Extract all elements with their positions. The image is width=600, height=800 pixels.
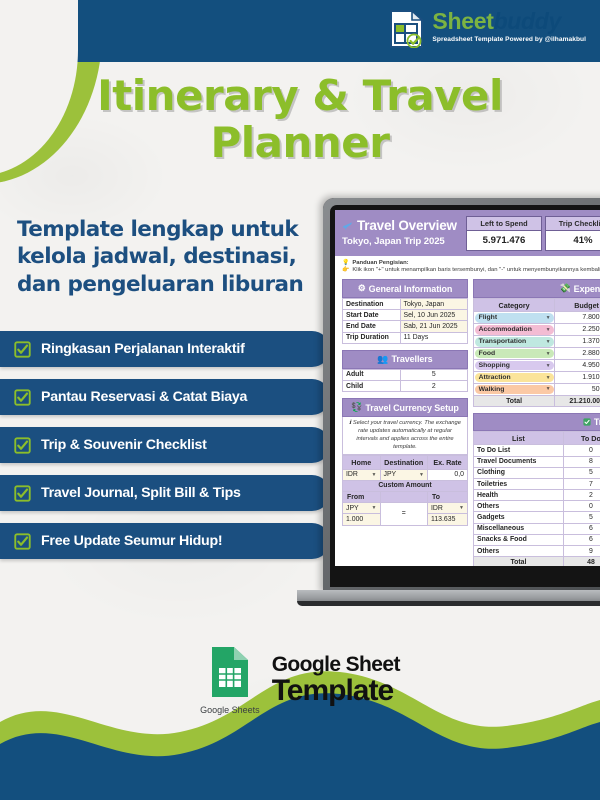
column-header: Home — [343, 456, 381, 469]
spreadsheet-body: ⚙ General Information Destination Tokyo,… — [335, 276, 600, 566]
table-row: Transportation ▼ 1.370.000 — [474, 336, 600, 348]
page-title-line-1: Itinerary & Travel — [0, 72, 600, 119]
logo-word-secondary: buddy — [494, 8, 562, 34]
subheading-line-3: dan pengeluaran liburan — [17, 271, 317, 298]
from-currency-value: JPY — [346, 505, 359, 512]
chevron-down-icon: ▼ — [546, 375, 551, 381]
feature-label: Trip & Souvenir Checklist — [41, 437, 207, 453]
to-label: To — [428, 491, 468, 502]
row-value[interactable]: 2 — [400, 380, 468, 391]
checkbox-checked-icon — [583, 418, 591, 426]
total-value: 21.210.000 — [555, 395, 600, 406]
kpi-card: Trip Checklist 41% — [545, 216, 600, 251]
page-title: Itinerary & Travel Planner — [0, 72, 600, 166]
row-label: Start Date — [343, 310, 401, 321]
subheading-line-1: Template lengkap untuk — [17, 216, 317, 243]
checklist-name: To Do List — [474, 445, 564, 456]
currency-note: ℹ Select your travel currency. The excha… — [342, 417, 468, 455]
chevron-down-icon: ▼ — [419, 472, 424, 478]
table-row: Miscellaneous 6 — [474, 523, 600, 534]
expense-category-cell[interactable]: Flight ▼ — [474, 312, 555, 324]
info-icon: ℹ — [349, 420, 351, 426]
expense-budget: 2.880.000 — [555, 348, 600, 360]
exchange-rate-value: 0,0 — [428, 469, 468, 480]
to-currency-select[interactable]: IDR ▼ — [428, 503, 468, 514]
kpi-label: Left to Spend — [466, 216, 542, 231]
row-value[interactable]: Sab, 21 Jun 2025 — [400, 321, 468, 332]
checkbox-checked-icon — [14, 485, 31, 502]
expense-category-cell[interactable]: Shopping ▼ — [474, 360, 555, 372]
people-icon: 👥 — [377, 354, 388, 365]
category-label: Shopping — [479, 362, 510, 369]
row-label: Adult — [343, 369, 401, 380]
expense-category-cell[interactable]: Transportation ▼ — [474, 336, 555, 348]
table-row: Others 0 — [474, 501, 600, 512]
checklist-count: 6 — [563, 523, 600, 534]
table-row: Start Date Sel, 10 Jun 2025 — [343, 310, 468, 321]
expense-category-cell[interactable]: Food ▼ — [474, 348, 555, 360]
google-sheet-template-text: Google Sheet Template — [272, 654, 400, 706]
row-value[interactable]: 5 — [400, 369, 468, 380]
from-amount[interactable]: 1.000 — [343, 514, 381, 525]
currency-title-text: Travel Currency Setup — [365, 403, 458, 413]
from-label: From — [343, 491, 381, 502]
checklist-title: Trip — [473, 413, 600, 431]
travellers-panel: 👥 Travellers Adult 5 — [342, 350, 468, 392]
chevron-down-icon: ▼ — [372, 472, 377, 478]
column-header: To Do — [563, 432, 600, 445]
page-subheading: Template lengkap untuk kelola jadwal, de… — [17, 216, 317, 298]
kpi-card: Left to Spend 5.971.476 — [466, 216, 542, 251]
currency-panel: 💱 Travel Currency Setup ℹ Select your tr… — [342, 398, 468, 525]
category-label: Transportation — [479, 338, 527, 345]
table-row: Attraction ▼ 1.910.000 — [474, 372, 600, 384]
google-sheets-logo-block: Google Sheets — [200, 645, 260, 715]
row-value[interactable]: 11 Days — [400, 332, 468, 343]
column-header: Ex. Rate — [428, 456, 468, 469]
guide-text: Klik ikon "+" untuk menampilkan baris te… — [352, 267, 600, 273]
expense-category-cell[interactable]: Accommodation ▼ — [474, 324, 555, 336]
table-row: Adult 5 — [343, 369, 468, 380]
total-value: 48 — [563, 557, 600, 566]
checklist-count: 2 — [563, 490, 600, 501]
total-label: Total — [474, 395, 555, 406]
category-pill[interactable]: Flight ▼ — [475, 313, 554, 323]
checklist-panel: Trip List To Do — [473, 413, 600, 566]
chevron-down-icon: ▼ — [372, 505, 377, 511]
table-row: Custom Amount — [343, 480, 468, 491]
custom-amount-title: Custom Amount — [343, 480, 468, 491]
row-label: Trip Duration — [343, 332, 401, 343]
pointing-hand-icon: 👉 — [342, 267, 349, 273]
table-row: Snacks & Food 6 — [474, 534, 600, 545]
category-label: Flight — [479, 314, 498, 321]
laptop-base-lip — [297, 601, 600, 606]
chevron-down-icon: ▼ — [546, 315, 551, 321]
chevron-down-icon: ▼ — [546, 363, 551, 369]
expense-category-cell[interactable]: Attraction ▼ — [474, 372, 555, 384]
category-label: Attraction — [479, 374, 511, 381]
checklist-count: 5 — [563, 512, 600, 523]
kpi-row: Left to Spend 5.971.476 Trip Checklist 4… — [460, 216, 600, 251]
google-sheets-caption: Google Sheets — [200, 705, 260, 715]
feature-label: Pantau Reservasi & Catat Biaya — [41, 389, 247, 405]
brand-logo: Sheetbuddy Spreadsheet Template Powered … — [389, 8, 586, 48]
feature-list: Ringkasan Perjalanan Interaktif Pantau R… — [0, 331, 330, 571]
checklist-count: 7 — [563, 478, 600, 489]
travellers-title-text: Travellers — [392, 354, 433, 364]
category-pill[interactable]: Accommodation ▼ — [475, 325, 554, 335]
expense-category-cell[interactable]: Walking ▼ — [474, 384, 555, 396]
checklist-name: Miscellaneous — [474, 523, 564, 534]
feature-item: Travel Journal, Split Bill & Tips — [0, 475, 330, 511]
expense-budget: 50.000 — [555, 384, 600, 396]
table-row: To Do List 0 — [474, 445, 600, 456]
footer-line-1: Google Sheet — [272, 654, 400, 675]
checkbox-checked-icon — [14, 341, 31, 358]
table-row: Travel Documents 8 — [474, 456, 600, 467]
chevron-down-icon: ▼ — [546, 327, 551, 333]
home-currency-value: IDR — [346, 471, 358, 478]
chevron-down-icon: ▼ — [459, 505, 464, 511]
guide-title: Panduan Pengisian: — [352, 260, 408, 266]
checklist-name: Travel Documents — [474, 456, 564, 467]
guide-title-row: 💡 Panduan Pengisian: — [342, 260, 600, 266]
category-label: Walking — [479, 386, 505, 393]
to-amount: 113.635 — [428, 514, 468, 525]
checklist-count: 5 — [563, 467, 600, 478]
table-header-row: Category Budget — [474, 299, 600, 312]
table-row: Destination Tokyo, Japan — [343, 299, 468, 310]
row-label: Child — [343, 380, 401, 391]
travellers-title: 👥 Travellers — [342, 350, 468, 369]
column-header: List — [474, 432, 564, 445]
table-row: Flight ▼ 7.800.000 — [474, 312, 600, 324]
table-total-row: Total 48 — [474, 557, 600, 566]
google-sheet-footer: Google Sheets Google Sheet Template — [0, 645, 600, 715]
feature-label: Ringkasan Perjalanan Interaktif — [41, 341, 245, 357]
checkbox-checked-icon — [14, 533, 31, 550]
subheading-line-2: kelola jadwal, destinasi, — [17, 243, 317, 270]
currency-note-text: Select your travel currency. The exchang… — [353, 420, 461, 449]
table-row: Gadgets 5 — [474, 512, 600, 523]
row-label: Destination — [343, 299, 401, 310]
expense-budget: 7.800.000 — [555, 312, 600, 324]
equals-sign: = — [380, 503, 428, 525]
table-row: Clothing 5 — [474, 467, 600, 478]
table-row: Child 2 — [343, 380, 468, 391]
to-currency-value: IDR — [431, 505, 443, 512]
currency-title: 💱 Travel Currency Setup — [342, 398, 468, 417]
google-sheets-icon — [209, 645, 251, 699]
destination-currency-select[interactable]: JPY ▼ — [380, 469, 428, 480]
table-row: From To — [343, 491, 468, 502]
chevron-down-icon: ▼ — [546, 339, 551, 345]
general-information-panel: ⚙ General Information Destination Tokyo,… — [342, 279, 468, 344]
from-currency-select[interactable]: JPY ▼ — [343, 503, 381, 514]
laptop-display: Travel Overview Tokyo, Japan Trip 2025 L… — [330, 205, 600, 587]
expenses-title-text: Expense — [574, 284, 600, 294]
laptop-screen: Travel Overview Tokyo, Japan Trip 2025 L… — [323, 198, 600, 594]
checklist-count: 6 — [563, 534, 600, 545]
category-pill[interactable]: Shopping ▼ — [475, 361, 554, 371]
category-label: Accommodation — [479, 326, 532, 333]
row-value[interactable]: Tokyo, Japan — [400, 299, 468, 310]
table-header-row: List To Do — [474, 432, 600, 445]
kpi-label: Trip Checklist — [545, 216, 600, 231]
money-icon: 💸 — [560, 283, 571, 294]
overview-title-text: Travel Overview — [357, 218, 457, 233]
checklist-name: Snacks & Food — [474, 534, 564, 545]
spreadsheet-header: Travel Overview Tokyo, Japan Trip 2025 L… — [335, 210, 600, 256]
left-column: ⚙ General Information Destination Tokyo,… — [342, 279, 468, 566]
checklist-count: 9 — [563, 546, 600, 557]
checklist-name: Toiletries — [474, 478, 564, 489]
checklist-title-text: Trip — [594, 417, 600, 427]
row-label: End Date — [343, 321, 401, 332]
category-pill[interactable]: Transportation ▼ — [475, 337, 554, 347]
expense-budget: 2.250.000 — [555, 324, 600, 336]
airplane-icon — [342, 220, 353, 231]
currency-icon: 💱 — [351, 402, 362, 413]
logo-tagline: Spreadsheet Template Powered by @ilhamak… — [432, 36, 586, 43]
expense-budget: 4.950.000 — [555, 360, 600, 372]
feature-item: Ringkasan Perjalanan Interaktif — [0, 331, 330, 367]
table-row: End Date Sab, 21 Jun 2025 — [343, 321, 468, 332]
kpi-value: 5.971.476 — [466, 231, 542, 251]
general-information-title-text: General Information — [369, 284, 453, 294]
checklist-name: Others — [474, 546, 564, 557]
column-header: Budget — [555, 299, 600, 312]
checkbox-checked-icon — [14, 437, 31, 454]
destination-currency-value: JPY — [384, 471, 397, 478]
table-header-row: Home Destination Ex. Rate — [343, 456, 468, 469]
currency-table: Home Destination Ex. Rate — [342, 455, 468, 525]
feature-label: Free Update Seumur Hidup! — [41, 533, 222, 549]
table-row: Accommodation ▼ 2.250.000 — [474, 324, 600, 336]
checklist-count: 8 — [563, 456, 600, 467]
spreadsheet-viewport: Travel Overview Tokyo, Japan Trip 2025 L… — [335, 210, 600, 566]
table-row: Trip Duration 11 Days — [343, 332, 468, 343]
table-row: Walking ▼ 50.000 — [474, 384, 600, 396]
checklist-name: Gadgets — [474, 512, 564, 523]
feature-item: Pantau Reservasi & Catat Biaya — [0, 379, 330, 415]
info-icon: ⚙ — [358, 283, 366, 294]
checklist-name: Health — [474, 490, 564, 501]
expense-budget: 1.910.000 — [555, 372, 600, 384]
row-value[interactable]: Sel, 10 Jun 2025 — [400, 310, 468, 321]
logo-wordmark: Sheetbuddy — [432, 10, 586, 33]
home-currency-select[interactable]: IDR ▼ — [343, 469, 381, 480]
feature-label: Travel Journal, Split Bill & Tips — [41, 485, 241, 501]
column-header: Destination — [380, 456, 428, 469]
footer-line-2: Template — [272, 676, 400, 706]
checkbox-checked-icon — [14, 389, 31, 406]
total-label: Total — [474, 557, 564, 566]
column-header: Category — [474, 299, 555, 312]
overview-title-row: Travel Overview — [342, 218, 460, 233]
expenses-table: Category Budget Flight — [473, 298, 600, 407]
kpi-value: 41% — [545, 231, 600, 251]
checklist-name: Clothing — [474, 467, 564, 478]
category-label: Food — [479, 350, 496, 357]
chevron-down-icon: ▼ — [546, 386, 551, 392]
right-column: 💸 Expense Category Budget — [473, 279, 600, 566]
laptop-mockup: Travel Overview Tokyo, Japan Trip 2025 L… — [323, 198, 600, 594]
travellers-table: Adult 5 Child 2 — [342, 369, 468, 392]
table-row: Shopping ▼ 4.950.000 — [474, 360, 600, 372]
table-row: IDR ▼ JPY ▼ — [343, 469, 468, 480]
table-row: Food ▼ 2.880.000 — [474, 348, 600, 360]
expenses-title: 💸 Expense — [473, 279, 600, 298]
guide-panel: 💡 Panduan Pengisian: 👉 Klik ikon "+" unt… — [335, 256, 600, 276]
chevron-down-icon: ▼ — [546, 351, 551, 357]
overview-subtitle: Tokyo, Japan Trip 2025 — [342, 236, 460, 247]
page-title-line-2: Planner — [0, 119, 600, 166]
spacer-cell — [380, 491, 428, 502]
table-total-row: Total 21.210.000 — [474, 395, 600, 406]
table-row: Toiletries 7 — [474, 478, 600, 489]
spreadsheet-document-icon — [389, 10, 425, 48]
checklist-table: List To Do To Do List 0 — [473, 431, 600, 566]
general-information-title: ⚙ General Information — [342, 279, 468, 298]
category-pill[interactable]: Food ▼ — [475, 349, 554, 359]
lightbulb-icon: 💡 — [342, 260, 349, 266]
general-information-table: Destination Tokyo, Japan Start Date Sel,… — [342, 298, 468, 344]
checklist-count: 0 — [563, 445, 600, 456]
feature-item: Free Update Seumur Hidup! — [0, 523, 330, 559]
category-pill[interactable]: Walking ▼ — [475, 385, 554, 395]
guide-text-row: 👉 Klik ikon "+" untuk menampilkan baris … — [342, 267, 600, 273]
logo-word-primary: Sheet — [432, 8, 493, 34]
feature-item: Trip & Souvenir Checklist — [0, 427, 330, 463]
table-row: Health 2 — [474, 490, 600, 501]
table-row: JPY ▼ = IDR ▼ — [343, 503, 468, 514]
checklist-count: 0 — [563, 501, 600, 512]
expenses-panel: 💸 Expense Category Budget — [473, 279, 600, 407]
overview-title-block: Travel Overview Tokyo, Japan Trip 2025 — [342, 216, 460, 251]
expense-budget: 1.370.000 — [555, 336, 600, 348]
table-row: Others 9 — [474, 546, 600, 557]
category-pill[interactable]: Attraction ▼ — [475, 373, 554, 383]
checklist-name: Others — [474, 501, 564, 512]
